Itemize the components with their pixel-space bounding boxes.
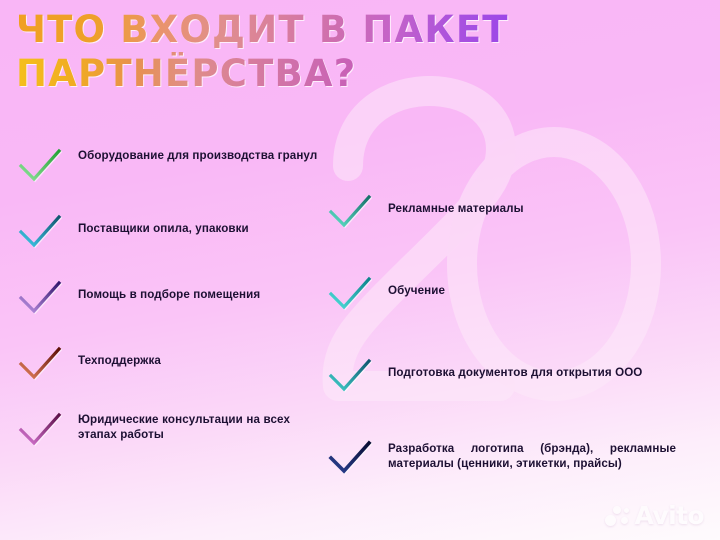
list-item-label: Оборудование для производства гранул — [78, 146, 317, 164]
checkmark-icon — [328, 192, 372, 232]
list-item: Техподдержка — [18, 344, 328, 384]
list-item: Обучение — [328, 274, 712, 314]
checkmark-icon — [328, 356, 372, 396]
page-title: ЧТО ВХОДИТ В ПАКЕТ ПАРТНЁРСТВА? — [16, 8, 576, 96]
page-title-line-2: ПАРТНЁРСТВА? — [16, 52, 576, 96]
checkmark-icon — [18, 344, 62, 384]
list-item: Помощь в подборе помещения — [18, 278, 328, 318]
list-item-label: Обучение — [388, 274, 445, 299]
page-title-line-1-text: ЧТО ВХОДИТ В ПАКЕТ — [16, 8, 509, 51]
list-item: Подготовка документов для открытия ООО — [328, 356, 712, 396]
avito-watermark: Avito — [605, 503, 704, 528]
list-item-label: Техподдержка — [78, 344, 161, 369]
list-item: Оборудование для производства гранул — [18, 146, 328, 186]
list-item-label: Рекламные материалы — [388, 192, 524, 217]
poster-canvas: ЧТО ВХОДИТ В ПАКЕТ ПАРТНЁРСТВА? Оборудов… — [0, 0, 720, 540]
page-title-line-1: ЧТО ВХОДИТ В ПАКЕТ — [16, 8, 576, 52]
checkmark-icon — [18, 278, 62, 318]
checkmark-icon — [18, 410, 62, 450]
checkmark-icon — [328, 274, 372, 314]
checkmark-icon — [328, 438, 372, 478]
avito-wordmark: Avito — [635, 503, 704, 528]
list-item: Рекламные материалы — [328, 192, 712, 232]
list-item-label: Помощь в подборе помещения — [78, 278, 260, 303]
list-item: Поставщики опила, упаковки — [18, 212, 328, 252]
checkmark-icon — [18, 146, 62, 186]
list-item-label: Подготовка документов для открытия ООО — [388, 356, 642, 381]
list-item: Юридические консультации на всех этапах … — [18, 410, 328, 450]
checkmark-icon — [18, 212, 62, 252]
list-item-label: Поставщики опила, упаковки — [78, 212, 249, 237]
benefits-list-left: Оборудование для производства гранул Пос… — [18, 146, 328, 476]
benefits-list-right: Рекламные материалы Обучение — [328, 192, 712, 520]
page-title-line-2-text: ПАРТНЁРСТВА? — [16, 52, 356, 95]
avito-logo-icon — [605, 505, 632, 527]
list-item-label: Юридические консультации на всех этапах … — [78, 410, 290, 442]
list-item: Разработка логотипа (брэнда), рекламные … — [328, 438, 712, 478]
list-item-label: Разработка логотипа (брэнда), рекламные … — [388, 438, 676, 471]
